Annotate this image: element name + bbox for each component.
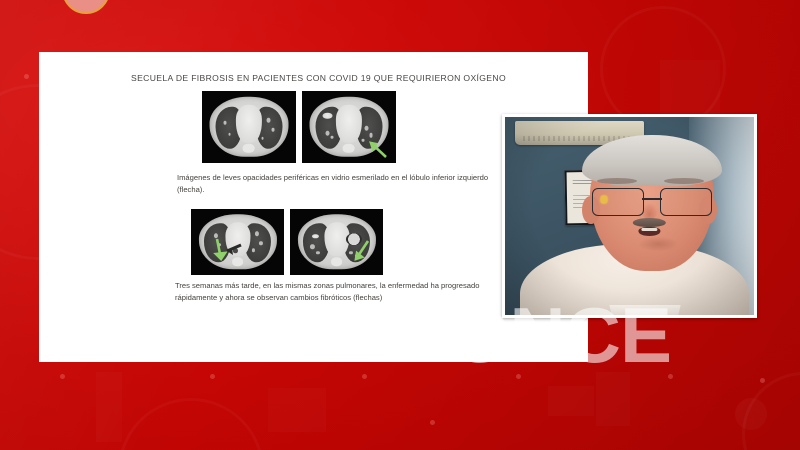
- axial-chest-ct-baseline-left: [202, 91, 296, 163]
- vertebral-body: [232, 258, 244, 266]
- background-block-motif: [96, 372, 122, 442]
- baseline-caption: Imágenes de leves opacidades periféricas…: [177, 172, 507, 196]
- followup-ct-row: [191, 209, 383, 275]
- vertebral-body: [343, 144, 355, 153]
- axial-chest-ct-followup-left: [191, 209, 284, 275]
- pulmonary-vessel: [218, 243, 221, 246]
- background-dot: [430, 420, 435, 425]
- pulmonary-vessel: [266, 117, 270, 122]
- broadcast-screen: SECUELA DE FIBROSIS EN PACIENTES CON COV…: [0, 0, 800, 450]
- background-dot: [24, 74, 29, 79]
- background-block-motif: [548, 386, 594, 416]
- pulmonary-vessel: [370, 133, 373, 137]
- video-vignette: [505, 117, 754, 315]
- pulmonary-vessel: [271, 128, 274, 132]
- background-dot: [516, 374, 521, 379]
- background-dot: [668, 374, 673, 379]
- vertebral-body: [243, 144, 255, 153]
- mediastinum: [336, 105, 361, 142]
- pulmonary-vessel: [316, 251, 320, 255]
- background-block-motif: [596, 372, 630, 426]
- pulmonary-vessel: [214, 233, 218, 238]
- video-feed: [505, 117, 754, 315]
- followup-caption: Tres semanas más tarde, en las mismas zo…: [175, 280, 515, 304]
- background-block-motif: [268, 388, 326, 432]
- background-circle-motif: [735, 398, 767, 430]
- background-dot: [362, 374, 367, 379]
- background-dot: [210, 374, 215, 379]
- axial-chest-ct-baseline-right: [302, 91, 396, 163]
- axial-chest-ct-followup-right: [290, 209, 383, 275]
- thorax-outline: [310, 97, 389, 157]
- pulmonary-vessel: [330, 135, 333, 139]
- slide-title: SECUELA DE FIBROSIS EN PACIENTES CON COV…: [131, 73, 561, 83]
- baseline-ct-row: [202, 91, 396, 163]
- pulmonary-vessel: [259, 241, 263, 245]
- mediastinum: [236, 105, 261, 142]
- thorax-outline: [297, 214, 375, 269]
- airway-lumen: [233, 249, 238, 253]
- thorax-outline: [198, 214, 276, 269]
- pulmonary-vessel: [252, 249, 255, 252]
- background-dot: [60, 374, 65, 379]
- background-dot: [760, 378, 765, 383]
- cavitary-lesion: [346, 233, 362, 245]
- pulmonary-vessel: [325, 131, 329, 136]
- thorax-outline: [210, 97, 289, 157]
- vertebral-body: [331, 258, 343, 266]
- remote-guest-video-inset[interactable]: [502, 114, 757, 318]
